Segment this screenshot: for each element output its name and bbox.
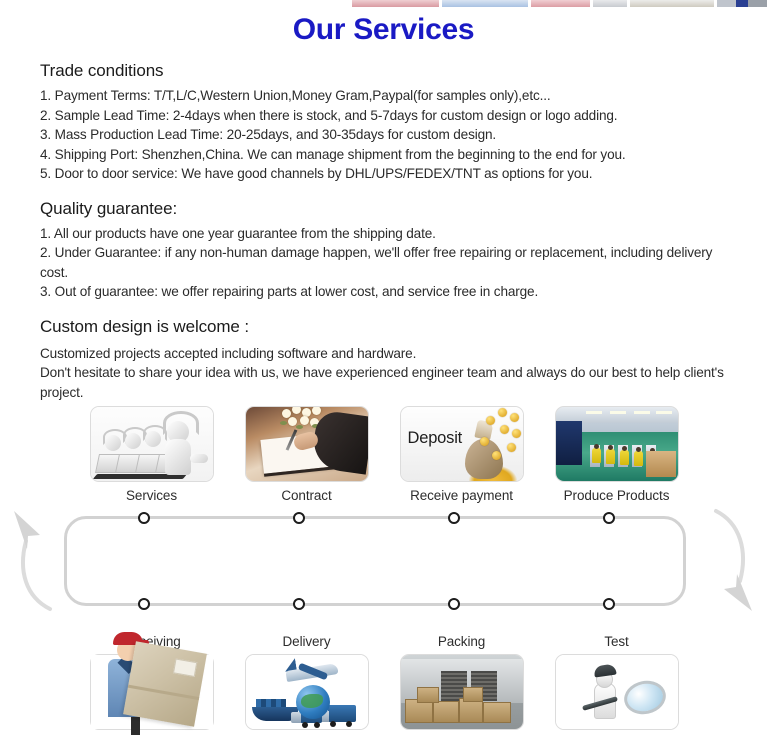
flow-node-receive-payment[interactable] [448, 512, 460, 524]
courier-carrying-parcel-image [91, 655, 213, 729]
curved-arrow-down-right-icon [694, 505, 766, 617]
flow-step-services[interactable]: Services [74, 406, 229, 503]
section-line: 3. Out of guarantee: we offer repairing … [40, 282, 740, 302]
flow-node-receiving[interactable] [138, 598, 150, 610]
flow-top-step-row: Services [74, 406, 694, 503]
hand-signing-contract-image [246, 407, 368, 481]
services-thumbnail [90, 406, 214, 482]
section-custom-design: Custom design is welcome : Customized pr… [40, 317, 740, 403]
packing-thumbnail [400, 654, 524, 730]
page-title: Our Services [0, 13, 767, 47]
banner-fragment [352, 0, 439, 7]
flow-step-delivery[interactable]: Delivery [229, 634, 384, 730]
process-flow-diagram: Services [0, 402, 767, 742]
receiving-thumbnail [90, 654, 214, 730]
deposit-image-text: Deposit [408, 429, 463, 448]
plane-ship-truck-globe-image [246, 655, 368, 729]
flow-node-produce-products[interactable] [603, 512, 615, 524]
flow-step-label: Delivery [283, 634, 331, 649]
section-quality-guarantee: Quality guarantee: 1. All our products h… [40, 199, 740, 302]
inspector-magnifying-glass-image [556, 655, 678, 729]
contract-thumbnail [245, 406, 369, 482]
services-text-body: Trade conditions 1. Payment Terms: T/T,L… [40, 61, 740, 417]
flow-step-label: Test [604, 634, 628, 649]
receive-payment-thumbnail: Deposit [400, 406, 524, 482]
flow-step-contract[interactable]: Contract [229, 406, 384, 503]
flow-node-test[interactable] [603, 598, 615, 610]
flow-step-label: Contract [281, 488, 331, 503]
flow-node-contract[interactable] [293, 512, 305, 524]
flow-step-test[interactable]: Test [539, 634, 694, 730]
flow-node-packing[interactable] [448, 598, 460, 610]
section-line: 1. Payment Terms: T/T,L/C,Western Union,… [40, 86, 740, 106]
flow-step-label: Produce Products [564, 488, 670, 503]
produce-products-thumbnail [555, 406, 679, 482]
section-heading: Custom design is welcome : [40, 317, 740, 337]
section-heading: Quality guarantee: [40, 199, 740, 219]
section-line: Don't hesitate to share your idea with u… [40, 363, 740, 402]
banner-fragment [717, 0, 767, 7]
section-line: 4. Shipping Port: Shenzhen,China. We can… [40, 145, 740, 165]
deposit-money-sack-image: Deposit [401, 407, 523, 481]
curved-arrow-up-left-icon [0, 505, 72, 617]
banner-fragment [593, 0, 627, 7]
banner-fragment [630, 0, 714, 7]
flow-step-receive-payment[interactable]: Deposit Receive payment [384, 406, 539, 503]
section-line: 3. Mass Production Lead Time: 20-25days,… [40, 125, 740, 145]
flow-bottom-step-row: Receiving Delivery [74, 634, 694, 730]
call-center-operators-image [91, 407, 213, 481]
flow-step-label: Receive payment [410, 488, 513, 503]
banner-fragment [531, 0, 591, 7]
section-line: Customized projects accepted including s… [40, 344, 740, 364]
flow-step-receiving[interactable]: Receiving [74, 634, 229, 730]
cartons-at-warehouse-image [401, 655, 523, 729]
section-line: 5. Door to door service: We have good ch… [40, 164, 740, 184]
flow-node-services[interactable] [138, 512, 150, 524]
delivery-thumbnail [245, 654, 369, 730]
section-trade-conditions: Trade conditions 1. Payment Terms: T/T,L… [40, 61, 740, 184]
section-line: 2. Sample Lead Time: 2-4days when there … [40, 106, 740, 126]
section-heading: Trade conditions [40, 61, 740, 81]
test-thumbnail [555, 654, 679, 730]
section-line: 2. Under Guarantee: if any non-human dam… [40, 243, 740, 282]
flow-step-produce-products[interactable]: Produce Products [539, 406, 694, 503]
section-line: 1. All our products have one year guaran… [40, 224, 740, 244]
flow-step-label: Packing [438, 634, 485, 649]
factory-assembly-line-image [556, 407, 678, 481]
flow-track [64, 516, 686, 606]
flow-step-label: Services [126, 488, 177, 503]
top-cropped-banner-strip [352, 0, 767, 7]
flow-node-delivery[interactable] [293, 598, 305, 610]
flow-step-packing[interactable]: Packing [384, 634, 539, 730]
banner-fragment [442, 0, 527, 7]
